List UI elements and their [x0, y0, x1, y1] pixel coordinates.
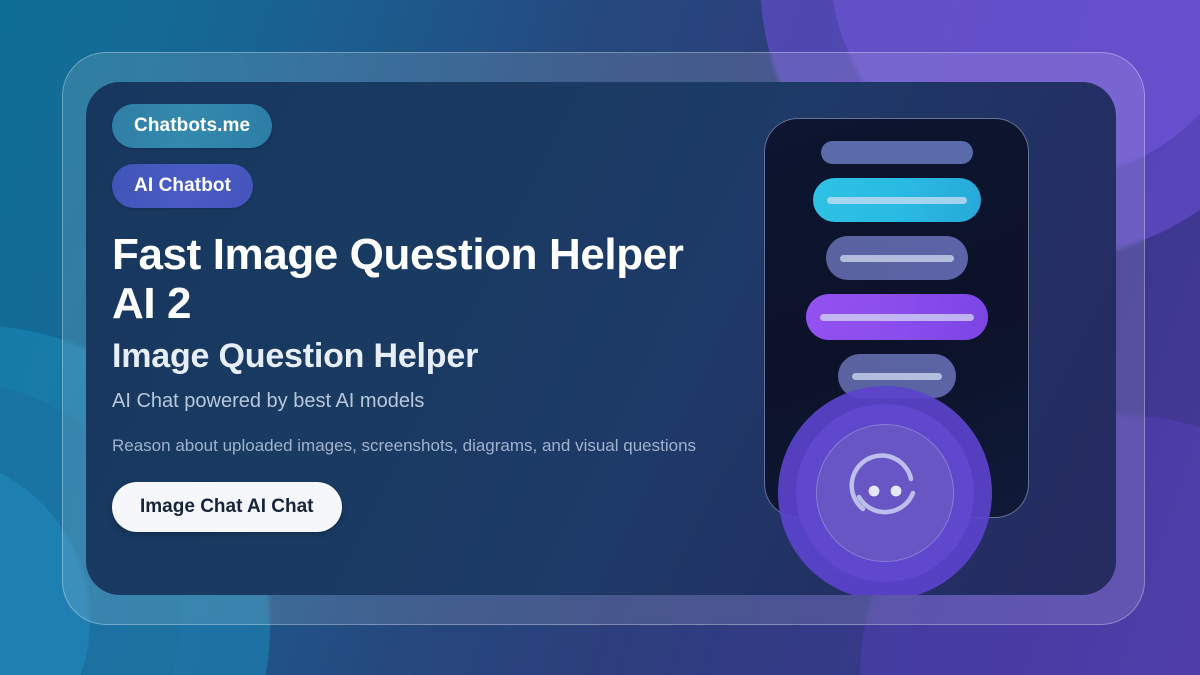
hero-card: Chatbots.me AI Chatbot Fast Image Questi…: [86, 82, 1116, 595]
chat-header-bar: [821, 141, 973, 164]
page-title: Fast Image Question Helper AI 2: [112, 230, 732, 329]
bubble-text-line: [852, 373, 942, 380]
bubble-text-line: [820, 314, 974, 321]
avatar: [778, 386, 992, 595]
hero-content: Chatbots.me AI Chatbot Fast Image Questi…: [112, 104, 752, 532]
chat-bubble-slate: [826, 236, 968, 280]
smiley-chat-face-icon: [833, 441, 937, 545]
description-text: Reason about uploaded images, screenshot…: [112, 431, 722, 461]
tagline: AI Chat powered by best AI models: [112, 390, 752, 413]
bubble-text-line: [840, 255, 954, 262]
page-subtitle: Image Question Helper: [112, 337, 752, 376]
chat-illustration: [756, 102, 1086, 582]
chat-bubble-purple: [806, 294, 988, 340]
category-badge[interactable]: AI Chatbot: [112, 164, 253, 208]
promo-banner: Chatbots.me AI Chatbot Fast Image Questi…: [0, 0, 1200, 675]
brand-badge[interactable]: Chatbots.me: [112, 104, 272, 148]
bubble-text-line: [827, 197, 967, 204]
chat-bubble-cyan: [813, 178, 981, 222]
chat-bubble-stack: [765, 141, 1028, 398]
cta-button[interactable]: Image Chat AI Chat: [112, 482, 342, 532]
